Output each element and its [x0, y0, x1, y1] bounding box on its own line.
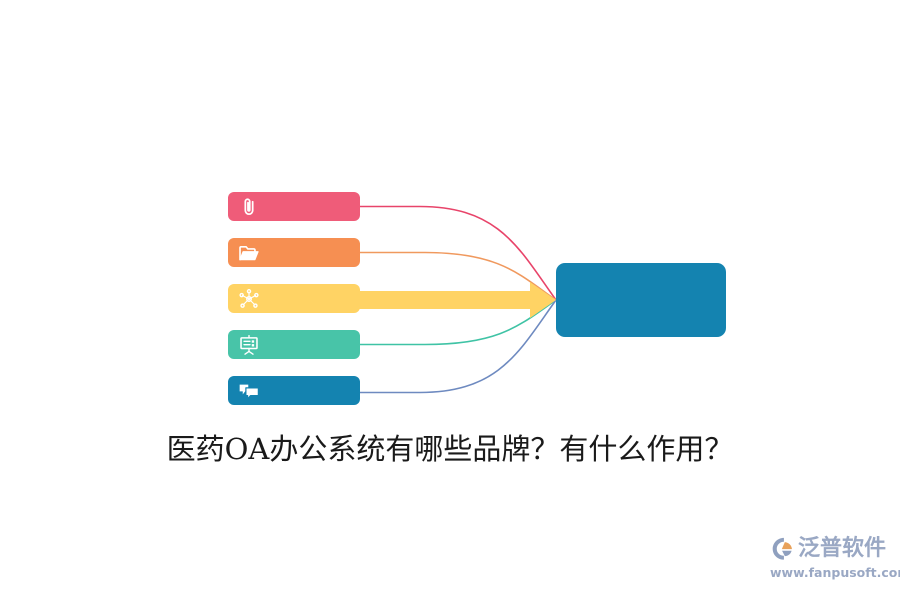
watermark-brand-name: 泛普软件 [798, 535, 886, 562]
connector-arrow-network [355, 282, 556, 318]
fanpu-logo-mark-icon [770, 535, 797, 562]
infographic-canvas: 医药OA办公系统有哪些品牌？有什么作用？ 泛普软件 www.fanpusoft.… [0, 0, 900, 600]
target-node[interactable] [556, 263, 726, 337]
folder-open-icon [238, 242, 260, 264]
headline-text: 医药OA办公系统有哪些品牌？有什么作用？ [0, 430, 900, 468]
paperclip-icon [238, 196, 260, 218]
source-card-presentation[interactable] [228, 330, 360, 359]
source-card-folder[interactable] [228, 238, 360, 267]
watermark-brand-row: 泛普软件 [770, 533, 892, 564]
diagram-stage [0, 0, 900, 600]
presentation-board-icon [238, 334, 260, 356]
watermark-logo: 泛普软件 www.fanpusoft.com [770, 533, 892, 583]
connector-lines-group [0, 0, 900, 600]
source-card-network[interactable] [228, 284, 360, 313]
chat-bubbles-icon [238, 380, 260, 402]
watermark-url: www.fanpusoft.com [770, 565, 892, 580]
network-hub-icon [238, 288, 260, 310]
connector-line-chat [360, 300, 556, 393]
source-card-chat[interactable] [228, 376, 360, 405]
source-card-paperclip[interactable] [228, 192, 360, 221]
